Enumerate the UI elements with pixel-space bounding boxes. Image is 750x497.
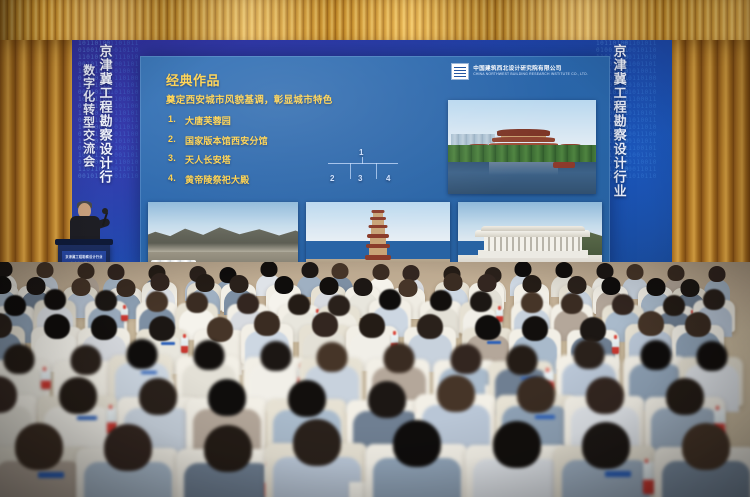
- slide-tree-diagram: 1 2 3 4: [326, 148, 400, 190]
- pagoda-tier-6: [372, 210, 385, 213]
- tree-crossbar: [328, 163, 398, 164]
- audience-member-head: [319, 277, 338, 295]
- list-item: 4. 黄帝陵祭祀大殿: [168, 173, 268, 186]
- audience-member-head: [44, 289, 66, 310]
- audience-member: [562, 422, 650, 497]
- photo-palace-roof-mid: [492, 137, 554, 143]
- audience-member-head: [521, 292, 543, 313]
- audience-member-head: [288, 380, 326, 417]
- list-item-number: 1.: [168, 114, 179, 127]
- photo-hall-roof: [475, 230, 590, 237]
- audience-member: [84, 424, 172, 497]
- photo-haze: [148, 243, 298, 253]
- audience-member: [373, 420, 461, 497]
- audience-member-head: [3, 344, 34, 374]
- audience-member-head: [186, 292, 208, 313]
- photo-hall-roof-upper: [481, 226, 585, 231]
- audience-member-head: [108, 264, 125, 280]
- audience-member-head: [709, 266, 726, 282]
- photo-palace-roof-top: [497, 129, 550, 136]
- audience-member-head: [274, 276, 293, 294]
- podium-top-edge: [55, 239, 113, 245]
- audience-member-head: [703, 289, 725, 310]
- audience-member-head: [393, 420, 441, 467]
- audience-member-head: [229, 275, 248, 293]
- tree-branch-2: [376, 163, 377, 179]
- audience-member-head: [302, 262, 319, 278]
- list-item-label: 国家版本馆西安分馆: [185, 134, 268, 147]
- audience-member-head: [573, 339, 604, 369]
- pagoda-body-3: [371, 228, 385, 234]
- tree-node-2: 2: [330, 174, 334, 183]
- audience-member: [184, 425, 272, 497]
- audience-member-head: [104, 424, 152, 471]
- photo-reflection: [489, 160, 557, 175]
- audience-member-head: [567, 276, 586, 294]
- audience-member-head: [368, 381, 406, 418]
- tang-paradise-palace-photo: [448, 100, 596, 194]
- pagoda-body-1: [369, 248, 387, 255]
- audience-member-head: [204, 425, 252, 472]
- audience-member-head: [430, 290, 452, 311]
- photo-hall-colonnade: [484, 236, 582, 251]
- mountain-landscape-photo: [148, 202, 298, 270]
- audience-member-head: [316, 342, 347, 372]
- audience-member-head: [195, 274, 214, 292]
- audience-member: [662, 423, 750, 497]
- audience-member-head: [666, 378, 704, 415]
- audience-member-head: [437, 375, 475, 412]
- attendee-lanyard: [141, 371, 157, 374]
- pagoda-body-4: [372, 220, 384, 225]
- audience-member-head: [193, 340, 224, 370]
- audience-member-head: [383, 343, 414, 373]
- audience-member-head: [685, 312, 711, 337]
- slide-bullet-list: 1. 大唐芙蓉园 2. 国家版本馆西安分馆 3. 天人长安塔 4. 黄帝陵祭祀大…: [168, 114, 268, 192]
- audience-member-head: [312, 312, 338, 337]
- attendee-lanyard: [535, 415, 555, 419]
- audience-member-head: [150, 273, 169, 291]
- audience-member-head: [293, 419, 341, 466]
- audience-member-head: [353, 278, 372, 296]
- audience-member-head: [522, 275, 541, 293]
- list-item-label: 天人长安塔: [185, 153, 231, 166]
- audience-member-head: [95, 290, 117, 311]
- pagoda-tier-5: [370, 217, 386, 220]
- company-name-en: CHINA NORTHWEST BUILDING RESEARCH INSTIT…: [473, 73, 588, 77]
- pagoda-tier-4: [369, 225, 388, 228]
- audience-member-head: [493, 421, 541, 468]
- corporate-logo: 中国建筑西北设计研究院有限公司 CHINA NORTHWEST BUILDING…: [452, 64, 588, 79]
- pagoda-tower-photo: [306, 202, 450, 270]
- list-item-number: 4.: [168, 173, 179, 186]
- audience-member-head: [15, 423, 63, 470]
- attendee-lanyard: [77, 416, 97, 420]
- pagoda-tier-3: [367, 234, 389, 238]
- audience-member-head: [207, 317, 233, 342]
- audience-member-head: [126, 339, 157, 369]
- list-item: 3. 天人长安塔: [168, 153, 268, 166]
- audience-member-head: [260, 341, 291, 371]
- list-item: 2. 国家版本馆西安分馆: [168, 134, 268, 147]
- tree-branch-1: [350, 163, 351, 179]
- classical-hall-photo: [458, 202, 602, 270]
- audience-member-head: [379, 289, 401, 310]
- audience-member-head: [91, 315, 117, 340]
- tree-node-3: 3: [358, 174, 362, 183]
- backdrop-title-left-secondary: 数字化转型交流会: [82, 64, 95, 204]
- tree-node-root: 1: [359, 148, 363, 157]
- audience-member-head: [450, 344, 481, 374]
- audience-member-head: [254, 311, 280, 336]
- audience-member: [473, 421, 561, 497]
- audience-member-head: [646, 278, 665, 296]
- list-item: 1. 大唐芙蓉园: [168, 114, 268, 127]
- attendee-lanyard: [605, 471, 631, 476]
- audience-member-head: [475, 315, 501, 340]
- slide-title: 经典作品: [166, 70, 220, 89]
- audience-member-head: [78, 263, 95, 279]
- photo-treeline: [448, 145, 596, 162]
- audience-member-head: [640, 340, 671, 370]
- audience-area: [0, 262, 750, 497]
- audience-member-head: [586, 377, 624, 414]
- audience-member-head: [638, 311, 664, 336]
- audience-member-head: [59, 377, 97, 414]
- audience-member-head: [517, 376, 555, 413]
- list-item-label: 黄帝陵祭祀大殿: [185, 173, 249, 186]
- audience-member-head: [443, 273, 462, 291]
- list-item-number: 2.: [168, 134, 179, 147]
- backdrop-title-left-primary: 京津冀工程勘察设计行: [98, 44, 112, 194]
- audience-member-head: [37, 262, 54, 278]
- list-item-label: 大唐芙蓉园: [185, 114, 231, 127]
- pagoda-body-2: [370, 238, 386, 244]
- pagoda-tier-2: [366, 244, 390, 248]
- audience-member-head: [477, 274, 496, 292]
- audience-member-head: [601, 277, 620, 295]
- audience-member-head: [149, 316, 175, 341]
- slide-subtitle: 奠定西安城市风貌基调，彰显城市特色: [166, 92, 333, 106]
- audience-member-head: [146, 291, 168, 312]
- projection-screen: 经典作品 奠定西安城市风貌基调，彰显城市特色 1. 大唐芙蓉园 2. 国家版本馆…: [140, 56, 610, 274]
- audience-member-head: [359, 313, 385, 338]
- audience-member: [0, 423, 83, 497]
- audience-member-head: [261, 262, 278, 277]
- audience-member-head: [522, 316, 548, 341]
- tree-node-4: 4: [386, 174, 390, 183]
- attendee-lanyard: [38, 472, 64, 477]
- audience-member-head: [417, 314, 443, 339]
- building-logo-icon: [452, 64, 468, 79]
- audience-member-head: [139, 378, 177, 415]
- microphone-icon: [102, 208, 108, 214]
- pagoda-tier-1: [365, 255, 391, 260]
- audience-member-head: [470, 291, 492, 312]
- audience-member-head: [682, 423, 730, 470]
- backdrop-title-right-primary: 京津冀工程勘察设计行业: [612, 44, 626, 212]
- audience-member-head: [70, 345, 101, 375]
- audience-member-head: [506, 345, 537, 375]
- photo-pagoda-structure: [365, 210, 391, 260]
- audience-member-head: [208, 379, 246, 416]
- conference-photo-scene: 10110100 01001011 11010010 00101101 1001…: [0, 0, 750, 497]
- corporate-logo-text: 中国建筑西北设计研究院有限公司 CHINA NORTHWEST BUILDING…: [473, 66, 588, 76]
- audience-member-head: [696, 341, 727, 371]
- podium-sign-line-1: 京津冀工程勘察设计行业: [65, 254, 102, 259]
- pagoda-body-5: [373, 213, 383, 217]
- list-item-number: 3.: [168, 153, 179, 166]
- audience-member-head: [561, 293, 583, 314]
- audience-member-head: [582, 422, 630, 469]
- photo-boat: [553, 162, 575, 168]
- audience-member-head: [44, 314, 70, 339]
